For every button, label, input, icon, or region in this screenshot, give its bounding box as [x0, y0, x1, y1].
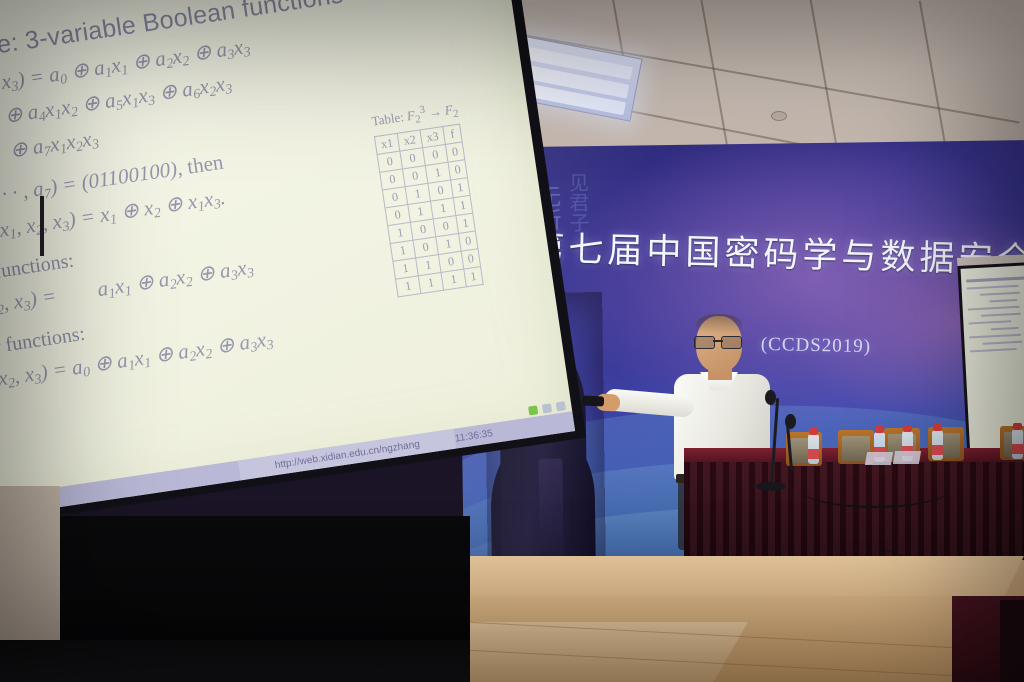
app-icon[interactable] [556, 401, 566, 411]
screen-surface: Example: 3-variable Boolean functions f(… [0, 0, 575, 525]
nameplate [865, 452, 893, 465]
screen-frame: Example: 3-variable Boolean functions f(… [0, 0, 586, 534]
truth-table: x1 x2 x3 f 0 0 0 [374, 123, 484, 297]
water-bottle [808, 434, 819, 464]
banner-main-title: 第七届中国密码学与数据安全学术会议 [529, 220, 1000, 282]
projection-screen: Example: 3-variable Boolean functions f(… [0, 0, 591, 564]
water-bottle [932, 430, 943, 460]
slide-content: Example: 3-variable Boolean functions f(… [0, 0, 575, 525]
table-cell: 1 [464, 266, 483, 286]
slide-footer-url: http://web.xidian.edu.cn/ngzhang [238, 429, 456, 481]
microphone-head-icon [785, 414, 796, 429]
microphone-base [756, 482, 786, 491]
table-cell: 1 [441, 269, 466, 290]
foreground-dark-object [1000, 600, 1024, 682]
cable [800, 470, 950, 508]
floor [0, 640, 470, 682]
app-icon[interactable] [528, 405, 538, 415]
nameplate [893, 451, 921, 464]
secondary-screen-stand [40, 196, 44, 256]
photo-scene: 无所不至 见君子 第七届中国密码学与数据安全学术会议 (CCDS2019) Ex… [0, 0, 1024, 682]
smoke-detector [771, 111, 787, 121]
table-cell: 1 [395, 276, 420, 297]
water-bottle [1012, 429, 1023, 459]
presenter-remote[interactable] [582, 395, 604, 406]
app-icon[interactable] [542, 403, 552, 413]
speaker-hair [696, 314, 742, 334]
truth-table-body: 0 0 0 0 0 0 1 0 [377, 142, 483, 297]
table-cell: 1 [418, 272, 443, 293]
microphone-head-icon [765, 390, 776, 405]
eyeglasses-icon [694, 336, 742, 347]
slide-footer-clock: 11:36:35 [454, 416, 574, 444]
